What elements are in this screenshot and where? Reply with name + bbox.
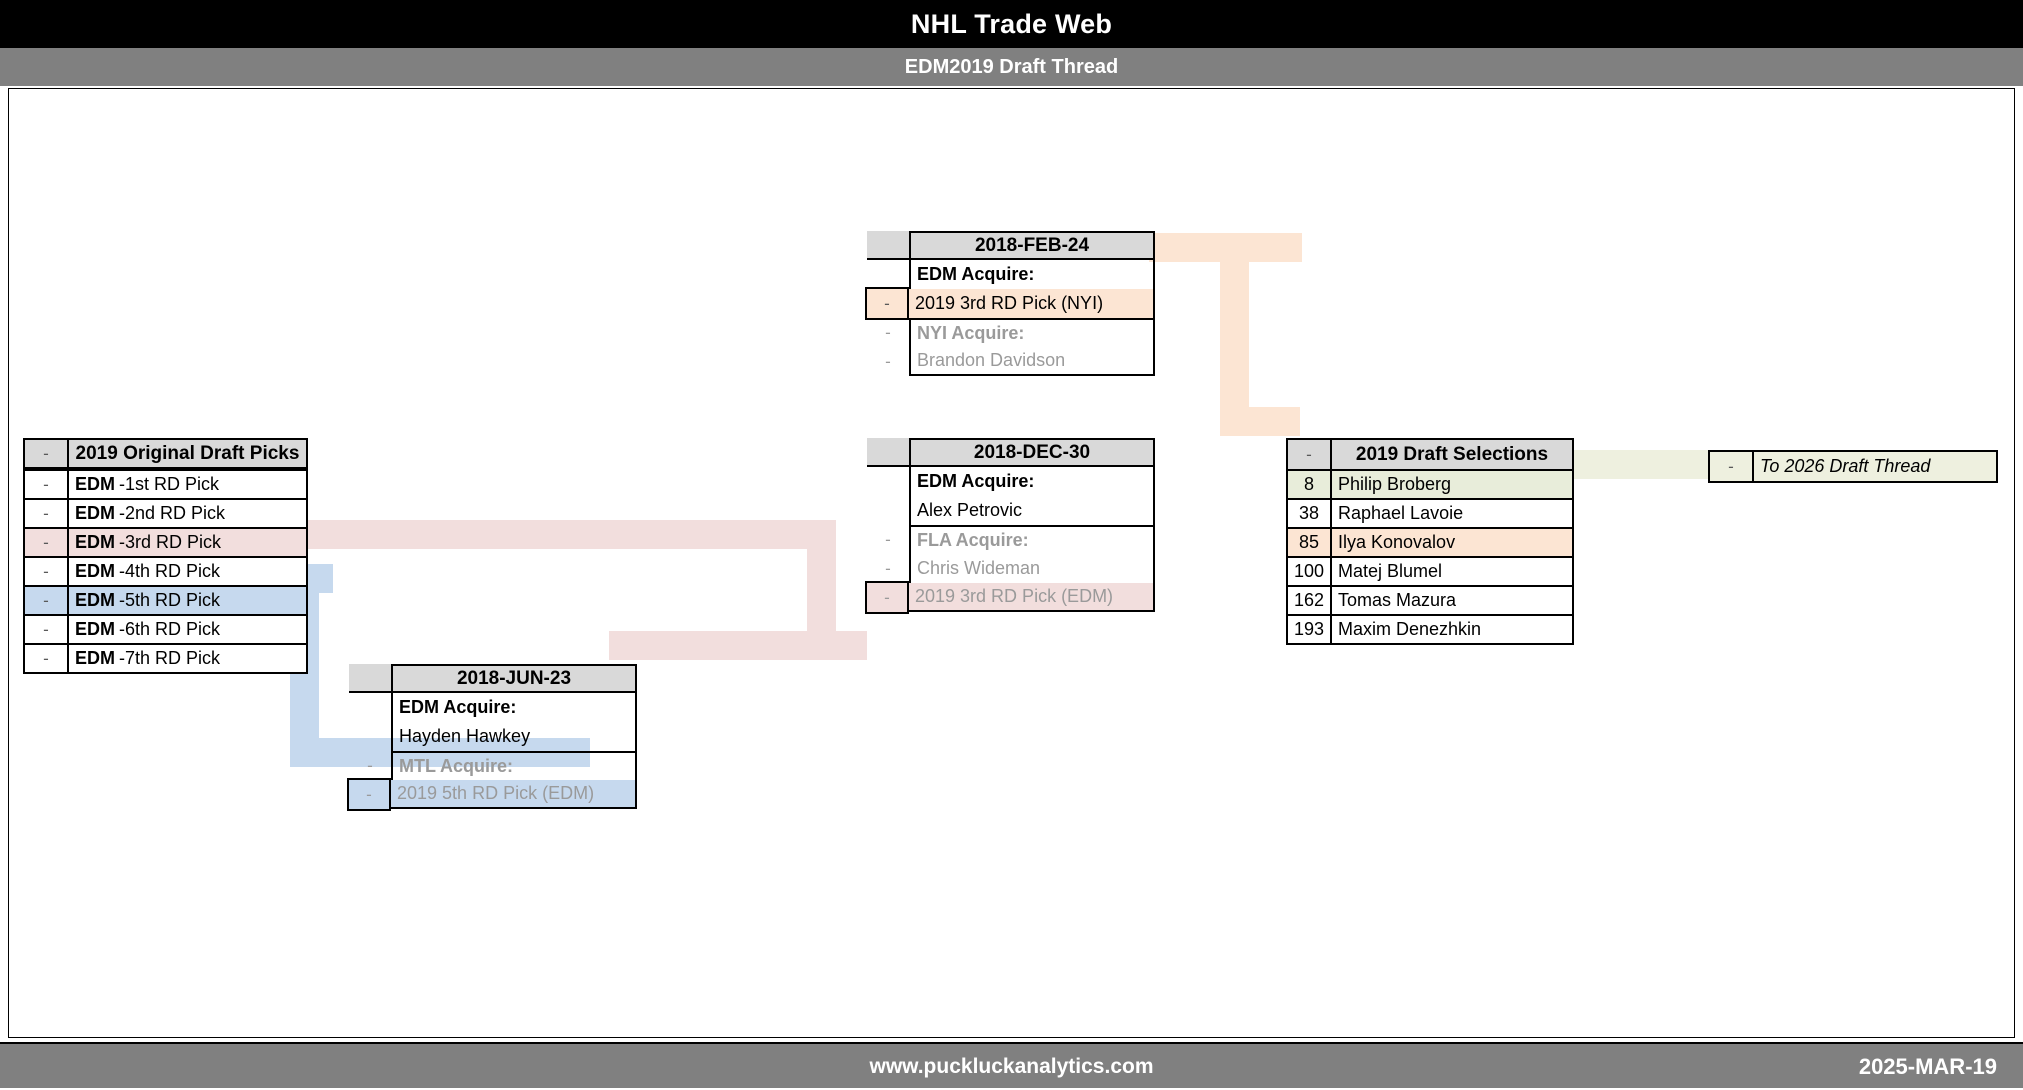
row-key: - <box>867 467 911 496</box>
header-key-cell: - <box>1288 440 1332 469</box>
row-key: - <box>867 554 911 583</box>
team-code: EDM <box>75 532 115 553</box>
player-name: Philip Broberg <box>1332 471 1572 498</box>
pick-text: -1st RD Pick <box>119 474 219 495</box>
pick-number: 100 <box>1288 558 1332 585</box>
node-trade-2018-feb-24[interactable]: - 2018-FEB-24 - EDM Acquire: - 2019 3rd … <box>867 231 1155 376</box>
row-key: - <box>865 287 909 320</box>
team-code: EDM <box>75 590 115 611</box>
link-row[interactable]: - To 2026 Draft Thread <box>1710 452 1996 481</box>
node-original-draft-picks[interactable]: - 2019 Original Draft Picks - EDM-1st RD… <box>23 438 308 674</box>
trade-row-acquire-label: - EDM Acquire: <box>349 693 637 722</box>
acquire-label: MTL Acquire: <box>393 751 637 780</box>
acquire-label: FLA Acquire: <box>911 525 1155 554</box>
table-row-selection[interactable]: 8 Philip Broberg <box>1288 469 1572 498</box>
trade-row-acquire-label: - NYI Acquire: <box>867 318 1155 347</box>
pick-text: -5th RD Pick <box>119 590 220 611</box>
trade-row-asset: - Chris Wideman <box>867 554 1155 583</box>
pick-text: -3rd RD Pick <box>119 532 221 553</box>
row-key: - <box>867 347 911 376</box>
row-key: - <box>867 260 911 289</box>
row-key: - <box>1710 452 1754 481</box>
asset-text: Hayden Hawkey <box>393 722 637 751</box>
trade-row-acquire-label: - EDM Acquire: <box>867 467 1155 496</box>
table-row-highlighted-5th[interactable]: - EDM-5th RD Pick <box>25 585 306 614</box>
team-code: EDM <box>75 648 115 669</box>
pick-text: 2019 5th RD Pick (EDM) <box>391 780 637 809</box>
table-row-selection[interactable]: 38 Raphael Lavoie <box>1288 498 1572 527</box>
app-title-bar: NHL Trade Web <box>0 0 2023 48</box>
row-key: - <box>25 645 69 672</box>
thread-title: EDM2019 Draft Thread <box>905 56 1118 79</box>
row-key: - <box>25 587 69 614</box>
trade-row-asset: - Alex Petrovic <box>867 496 1155 525</box>
table-header-row: - 2019 Draft Selections <box>1288 440 1572 469</box>
row-key: - <box>349 693 393 722</box>
player-name: Ilya Konovalov <box>1332 529 1572 556</box>
node-link-to-2026-thread[interactable]: - To 2026 Draft Thread <box>1708 450 1998 483</box>
header-key-cell: - <box>867 438 911 465</box>
pick-text: 2019 3rd RD Pick (NYI) <box>909 289 1155 318</box>
trade-row-pick[interactable]: - 2019 3rd RD Pick (NYI) <box>867 289 1155 318</box>
acquire-label: EDM Acquire: <box>911 260 1155 289</box>
row-key: - <box>25 558 69 585</box>
table-row-selection[interactable]: 100 Matej Blumel <box>1288 556 1572 585</box>
table-row-highlighted-3rd[interactable]: - EDM-3rd RD Pick <box>25 527 306 556</box>
table-row[interactable]: - EDM-6th RD Pick <box>25 614 306 643</box>
row-label: EDM-1st RD Pick <box>69 471 306 498</box>
team-code: EDM <box>75 474 115 495</box>
generated-date: 2025-MAR-19 <box>1859 1044 1997 1090</box>
pick-text: -4th RD Pick <box>119 561 220 582</box>
trade-date: 2018-DEC-30 <box>911 438 1155 465</box>
row-key: - <box>867 525 911 554</box>
row-key: - <box>25 471 69 498</box>
node-trade-2018-jun-23[interactable]: - 2018-JUN-23 - EDM Acquire: - Hayden Ha… <box>349 664 637 809</box>
table-row-selection[interactable]: 85 Ilya Konovalov <box>1288 527 1572 556</box>
header-key-cell: - <box>25 440 69 467</box>
trade-date: 2018-FEB-24 <box>911 231 1155 258</box>
row-key: - <box>349 751 393 780</box>
pick-text: -6th RD Pick <box>119 619 220 640</box>
link-label: To 2026 Draft Thread <box>1754 452 1996 481</box>
pick-text: -2nd RD Pick <box>119 503 225 524</box>
acquire-label: EDM Acquire: <box>911 467 1155 496</box>
trade-date: 2018-JUN-23 <box>393 664 637 691</box>
table-row[interactable]: - EDM-1st RD Pick <box>25 469 306 498</box>
row-label: EDM-3rd RD Pick <box>69 529 306 556</box>
trade-row-asset: - Brandon Davidson <box>867 347 1155 376</box>
connector-pink-horizontal-2 <box>609 631 867 660</box>
row-key: - <box>25 529 69 556</box>
trade-header-row: - 2018-JUN-23 <box>349 664 637 693</box>
player-name: Tomas Mazura <box>1332 587 1572 614</box>
row-key: - <box>347 778 391 811</box>
trade-row-acquire-label: - EDM Acquire: <box>867 260 1155 289</box>
footer-bar: www.puckluckanalytics.com 2025-MAR-19 <box>0 1042 2023 1088</box>
connector-green-horizontal <box>1564 450 1716 479</box>
site-url[interactable]: www.puckluckanalytics.com <box>0 1044 2023 1090</box>
trade-row-pick[interactable]: - 2019 3rd RD Pick (EDM) <box>867 583 1155 612</box>
trade-row-acquire-label: - FLA Acquire: <box>867 525 1155 554</box>
team-code: EDM <box>75 503 115 524</box>
node-trade-2018-dec-30[interactable]: - 2018-DEC-30 - EDM Acquire: - Alex Petr… <box>867 438 1155 612</box>
header-label: 2019 Draft Selections <box>1332 440 1572 469</box>
pick-text: -7th RD Pick <box>119 648 220 669</box>
row-key: - <box>865 581 909 614</box>
pick-number: 8 <box>1288 471 1332 498</box>
connector-pink-horizontal-1 <box>304 520 836 549</box>
pick-number: 162 <box>1288 587 1332 614</box>
row-key: - <box>867 318 911 347</box>
team-code: EDM <box>75 561 115 582</box>
table-header-row: - 2019 Original Draft Picks <box>25 440 306 469</box>
player-name: Raphael Lavoie <box>1332 500 1572 527</box>
pick-text: 2019 3rd RD Pick (EDM) <box>909 583 1155 612</box>
header-key-cell: - <box>867 231 911 258</box>
acquire-label: EDM Acquire: <box>393 693 637 722</box>
trade-row-asset: - Hayden Hawkey <box>349 722 637 751</box>
table-row[interactable]: - EDM-7th RD Pick <box>25 643 306 672</box>
team-code: EDM <box>75 619 115 640</box>
diagram-canvas: - 2019 Original Draft Picks - EDM-1st RD… <box>8 88 2015 1038</box>
player-name: Matej Blumel <box>1332 558 1572 585</box>
row-key: - <box>349 722 393 751</box>
row-key: - <box>867 496 911 525</box>
row-key: - <box>25 616 69 643</box>
header-label: 2019 Original Draft Picks <box>69 440 306 467</box>
table-row[interactable]: - EDM-4th RD Pick <box>25 556 306 585</box>
trade-header-row: - 2018-DEC-30 <box>867 438 1155 467</box>
asset-text: Brandon Davidson <box>911 347 1155 376</box>
pick-number: 193 <box>1288 616 1332 643</box>
asset-text: Alex Petrovic <box>911 496 1155 525</box>
row-label: EDM-7th RD Pick <box>69 645 306 672</box>
node-draft-selections[interactable]: - 2019 Draft Selections 8 Philip Broberg… <box>1286 438 1574 645</box>
thread-subtitle-bar: EDM2019 Draft Thread <box>0 48 2023 86</box>
player-name: Maxim Denezhkin <box>1332 616 1572 643</box>
table-row-selection[interactable]: 162 Tomas Mazura <box>1288 585 1572 614</box>
connector-orange-vertical <box>1220 233 1249 419</box>
table-row-selection[interactable]: 193 Maxim Denezhkin <box>1288 614 1572 643</box>
pick-number: 38 <box>1288 500 1332 527</box>
row-label: EDM-4th RD Pick <box>69 558 306 585</box>
page-title: NHL Trade Web <box>911 9 1112 40</box>
row-label: EDM-2nd RD Pick <box>69 500 306 527</box>
acquire-label: NYI Acquire: <box>911 318 1155 347</box>
table-row[interactable]: - EDM-2nd RD Pick <box>25 498 306 527</box>
row-label: EDM-5th RD Pick <box>69 587 306 614</box>
trade-row-acquire-label: - MTL Acquire: <box>349 751 637 780</box>
asset-text: Chris Wideman <box>911 554 1155 583</box>
trade-header-row: - 2018-FEB-24 <box>867 231 1155 260</box>
pick-number: 85 <box>1288 529 1332 556</box>
connector-orange-horizontal-2 <box>1220 407 1300 436</box>
row-key: - <box>25 500 69 527</box>
header-key-cell: - <box>349 664 393 691</box>
trade-row-pick[interactable]: - 2019 5th RD Pick (EDM) <box>349 780 637 809</box>
row-label: EDM-6th RD Pick <box>69 616 306 643</box>
